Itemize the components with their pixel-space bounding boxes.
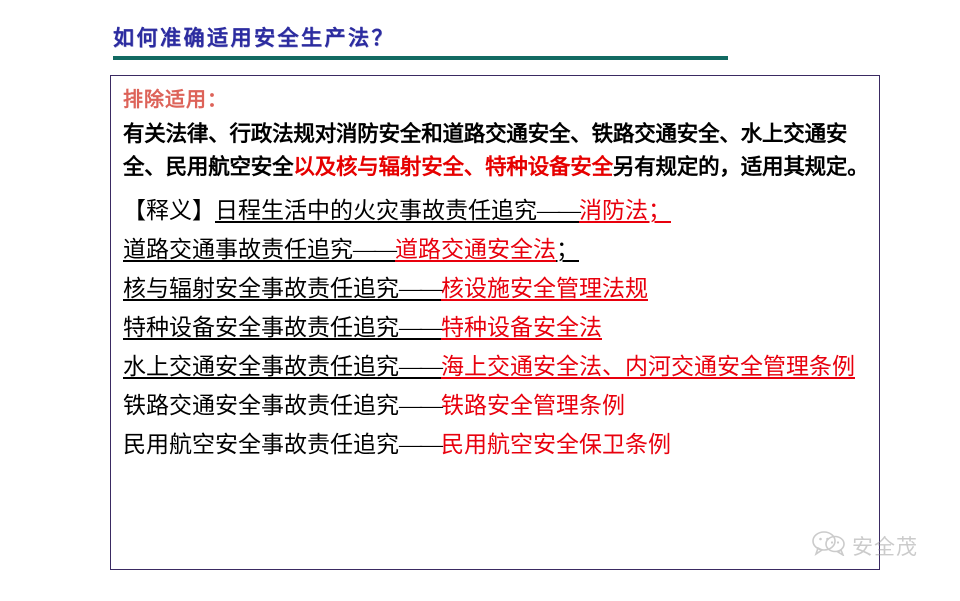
interpretation-result: 民用航空安全保卫条例 [441, 432, 671, 457]
interpretation-dash: —— [399, 347, 441, 386]
interpretation-dash: —— [399, 386, 441, 425]
interpretation-subject: 铁路交通安全事故责任追究 [123, 393, 399, 418]
interpretation-result: 消防法； [579, 198, 671, 223]
interpretation-result: 核设施安全管理法规 [441, 276, 648, 301]
watermark: 安全茂 [812, 530, 918, 561]
statute-paragraph: 有关法律、行政法规对消防安全和道路交通安全、铁路交通安全、水上交通安全、民用航空… [123, 118, 875, 184]
interpretation-subject: 日程生活中的火灾事故责任追究 [215, 198, 537, 223]
exclusion-heading: 排除适用： [123, 82, 873, 116]
interpretation-dash: —— [537, 191, 579, 230]
list-item: 道路交通事故责任追究——道路交通安全法； [123, 230, 875, 269]
interpretation-subject: 特种设备安全事故责任追究 [123, 315, 399, 340]
interpretation-result: 道路交通安全法 [395, 237, 556, 262]
list-item: 民用航空安全事故责任追究——民用航空安全保卫条例 [123, 425, 875, 464]
interpretation-result: 铁路安全管理条例 [441, 393, 625, 418]
list-item: 铁路交通安全事故责任追究——铁路安全管理条例 [123, 386, 875, 425]
list-item: 核与辐射安全事故责任追究——核设施安全管理法规 [123, 269, 875, 308]
interpretation-dash: —— [399, 308, 441, 347]
wechat-bubbles-icon [812, 530, 846, 561]
interpretation-subject: 道路交通事故责任追究 [123, 237, 353, 262]
interpretation-result: 特种设备安全法 [441, 315, 602, 340]
title-underline-rule [113, 56, 728, 60]
list-item: 水上交通安全事故责任追究——海上交通安全法、内河交通安全管理条例 [123, 347, 875, 386]
content-panel-inner: 排除适用： 有关法律、行政法规对消防安全和道路交通安全、铁路交通安全、水上交通安… [123, 82, 873, 464]
statute-segment-red-1: 以及核与辐射安全、特种设备安全 [293, 155, 613, 180]
content-panel: 排除适用： 有关法律、行政法规对消防安全和道路交通安全、铁路交通安全、水上交通安… [110, 75, 880, 570]
interpretation-dash: —— [399, 269, 441, 308]
interpretation-dash: —— [353, 230, 395, 269]
interpretation-subject: 民用航空安全事故责任追究 [123, 432, 399, 457]
interpretation-block: 【释义】日程生活中的火灾事故责任追究——消防法； 道路交通事故责任追究——道路交… [123, 191, 875, 464]
list-item: 【释义】日程生活中的火灾事故责任追究——消防法； [123, 191, 875, 230]
list-item: 特种设备安全事故责任追究——特种设备安全法 [123, 308, 875, 347]
page-title: 如何准确适用安全生产法？ [113, 22, 395, 52]
interpretation-subject: 核与辐射安全事故责任追究 [123, 276, 399, 301]
statute-segment-black-2: 另有规定的，适用其规定。 [613, 155, 869, 180]
interpretation-subject: 水上交通安全事故责任追究 [123, 354, 399, 379]
interpretation-dash: —— [399, 425, 441, 464]
interpretation-result: 海上交通安全法、内河交通安全管理条例 [441, 354, 855, 379]
watermark-label: 安全茂 [852, 531, 918, 561]
interpretation-prefix: 【释义】 [123, 198, 215, 223]
interpretation-tail: ； [556, 237, 579, 262]
